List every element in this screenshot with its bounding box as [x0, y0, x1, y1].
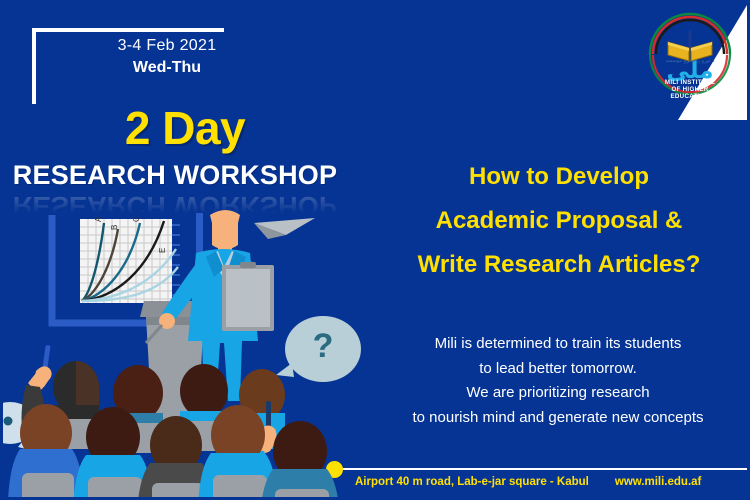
footer-address: Airport 40 m road, Lab-e-jar square - Ka…: [355, 476, 589, 488]
description-line-2: to lead better tomorrow.: [372, 357, 744, 382]
description: Mili is determined to train its students…: [372, 332, 744, 430]
question-mark: ?: [313, 327, 334, 365]
headline-line-2: Academic Proposal &: [378, 199, 740, 243]
audience-front-row: [8, 404, 340, 500]
headline-line-3: Write Research Articles?: [378, 243, 740, 287]
logo-name-line-2: OF HIGHER: [671, 86, 708, 93]
headline-line-1: How to Develop: [378, 155, 740, 199]
logo-book-icon: [668, 30, 712, 61]
svg-text:B: B: [110, 225, 119, 230]
paper-plane-icon: [254, 218, 315, 239]
description-line-4: to nourish mind and generate new concept…: [372, 406, 744, 431]
footer-website[interactable]: www.mili.edu.af: [615, 476, 701, 488]
logo-name-line-3: EDUCATION: [670, 93, 709, 100]
question-speech-bubble: ?: [276, 316, 361, 382]
mili-logo: ملی د لوړو زده کړو موسسه MILI INSTITUTE …: [642, 8, 738, 100]
footer-divider: [330, 468, 750, 470]
logo-name-line-1: MILI INSTITUTE: [665, 79, 715, 86]
classroom-illustration: A B C E: [0, 205, 380, 500]
svg-text:E: E: [158, 248, 167, 253]
logo-script-sub: د لوړو زده کړو موسسه: [665, 58, 714, 64]
svg-text:A: A: [94, 216, 103, 222]
whiteboard: A B C E: [80, 216, 180, 303]
headline: How to Develop Academic Proposal & Write…: [378, 155, 740, 287]
date-days: Wed-Thu: [62, 57, 272, 78]
date-block: 3-4 Feb 2021 Wed-Thu: [62, 36, 272, 78]
workshop-title: RESEARCH WORKSHOP: [10, 160, 340, 190]
svg-text:C: C: [132, 216, 141, 222]
date-range: 3-4 Feb 2021: [62, 36, 272, 56]
duration-title: 2 Day: [40, 103, 330, 153]
description-line-3: We are prioritizing research: [372, 381, 744, 406]
description-line-1: Mili is determined to train its students: [372, 332, 744, 357]
footer: Airport 40 m road, Lab-e-jar square - Ka…: [355, 476, 750, 488]
workshop-poster: 3-4 Feb 2021 Wed-Thu 2 Day RESEARCH WORK…: [0, 0, 750, 500]
